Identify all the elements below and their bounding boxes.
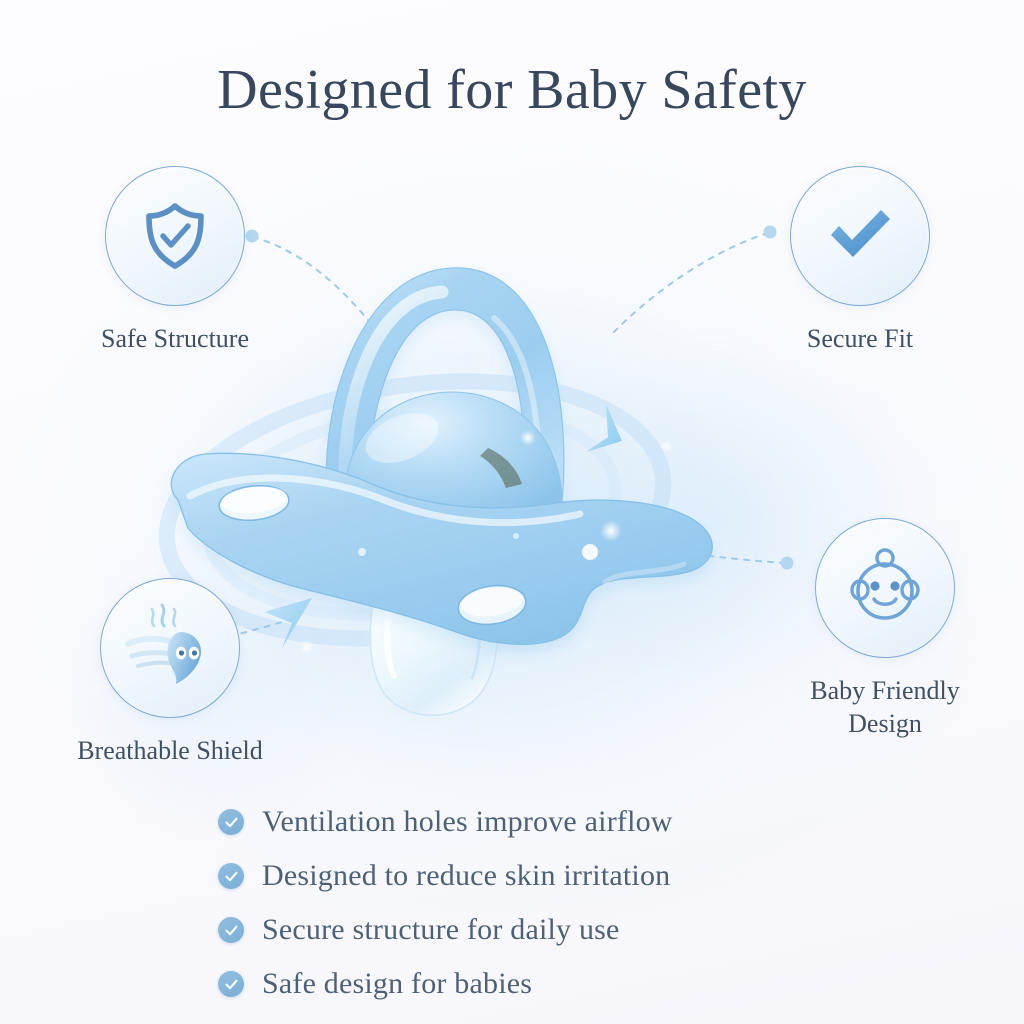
list-item-label: Secure structure for daily use xyxy=(262,913,620,947)
check-circle-icon xyxy=(218,863,244,889)
check-circle-icon xyxy=(218,971,244,997)
feature-label: Breathable Shield xyxy=(20,734,320,767)
shield-check-icon xyxy=(136,197,214,275)
page-title: Designed for Baby Safety xyxy=(0,58,1024,122)
feature-baby-friendly-design[interactable]: Baby Friendly Design xyxy=(815,518,1015,741)
airflow-wisp-icon xyxy=(118,596,222,700)
checkmark-icon xyxy=(819,195,901,277)
list-item-label: Safe design for babies xyxy=(262,967,532,1001)
feature-secure-fit[interactable]: Secure Fit xyxy=(790,166,1000,355)
feature-label: Secure Fit xyxy=(720,322,1000,355)
check-circle-icon xyxy=(218,809,244,835)
feature-safe-structure[interactable]: Safe Structure xyxy=(105,166,315,355)
infographic-canvas: Designed for Baby Safety xyxy=(0,0,1024,1024)
list-item: Ventilation holes improve airflow xyxy=(218,795,878,849)
list-item: Safe design for babies xyxy=(218,957,878,1011)
connector-dot-secure-fit xyxy=(764,226,777,239)
check-circle-icon xyxy=(218,917,244,943)
list-item-label: Ventilation holes improve airflow xyxy=(262,805,673,839)
benefits-checklist: Ventilation holes improve airflow Design… xyxy=(218,795,878,1011)
list-item-label: Designed to reduce skin irritation xyxy=(262,859,670,893)
list-item: Designed to reduce skin irritation xyxy=(218,849,878,903)
feature-label: Baby Friendly Design xyxy=(755,674,1015,741)
list-item: Secure structure for daily use xyxy=(218,903,878,957)
feature-label: Safe Structure xyxy=(35,322,315,355)
baby-face-icon xyxy=(842,545,928,631)
feature-breathable-shield[interactable]: Breathable Shield xyxy=(100,578,320,767)
connector-dot-baby-friendly xyxy=(781,557,794,570)
feature-icon-circle xyxy=(105,166,245,306)
feature-icon-circle xyxy=(100,578,240,718)
feature-icon-circle xyxy=(790,166,930,306)
feature-icon-circle xyxy=(815,518,955,658)
